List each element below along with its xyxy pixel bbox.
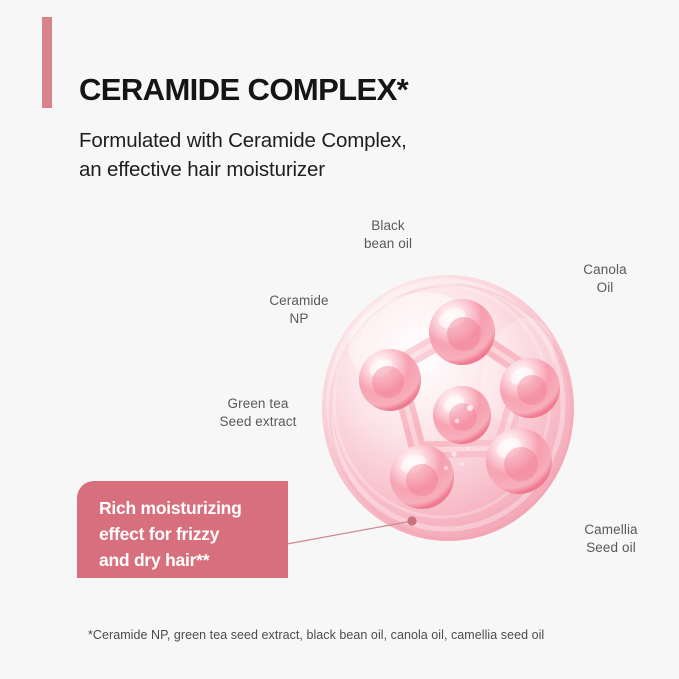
inner-sphere-top — [429, 299, 495, 365]
label-ceramide-np-line-1: Ceramide — [259, 292, 339, 310]
page-subtitle: Formulated with Ceramide Complex, an eff… — [79, 126, 407, 184]
highlight-callout-line-2: effect for frizzy — [99, 522, 288, 548]
label-green-tea-seed-extract-line-1: Green tea — [203, 395, 313, 413]
label-black-bean-oil-line-2: bean oil — [355, 235, 421, 253]
highlight-callout-text: Rich moisturizing effect for frizzy and … — [99, 496, 288, 574]
label-ceramide-np-line-2: NP — [259, 310, 339, 328]
highlight-callout-line-3: and dry hair** — [99, 548, 288, 574]
inner-sphere-upper-left — [359, 349, 421, 411]
label-black-bean-oil-line-1: Black — [355, 217, 421, 235]
inner-sphere-lower-right — [486, 428, 552, 494]
page-subtitle-line-1: Formulated with Ceramide Complex, — [79, 129, 407, 152]
page-subtitle-line-2: an effective hair moisturizer — [79, 155, 407, 184]
inner-sphere-lower-left — [390, 445, 454, 509]
highlight-callout-line-1: Rich moisturizing — [99, 496, 288, 522]
accent-bar — [42, 17, 52, 108]
label-ceramide-np: Ceramide NP — [259, 292, 339, 328]
highlight-callout-box: Rich moisturizing effect for frizzy and … — [77, 481, 288, 578]
label-black-bean-oil: Black bean oil — [355, 217, 421, 253]
infographic-canvas: CERAMIDE COMPLEX* Formulated with Cerami… — [0, 0, 679, 679]
label-camellia-seed-oil: Camellia Seed oil — [571, 521, 651, 557]
ceramide-droplet-graphic — [312, 258, 584, 550]
label-canola-oil-line-2: Oil — [574, 279, 636, 297]
label-camellia-seed-oil-line-2: Seed oil — [571, 539, 651, 557]
label-green-tea-seed-extract: Green tea Seed extract — [203, 395, 313, 431]
page-title: CERAMIDE COMPLEX* — [79, 74, 408, 105]
inner-sphere-center — [433, 386, 491, 444]
label-green-tea-seed-extract-line-2: Seed extract — [203, 413, 313, 431]
label-canola-oil: Canola Oil — [574, 261, 636, 297]
label-camellia-seed-oil-line-1: Camellia — [571, 521, 651, 539]
inner-sphere-upper-right — [500, 358, 560, 418]
label-canola-oil-line-1: Canola — [574, 261, 636, 279]
footnote: *Ceramide NP, green tea seed extract, bl… — [88, 628, 544, 642]
